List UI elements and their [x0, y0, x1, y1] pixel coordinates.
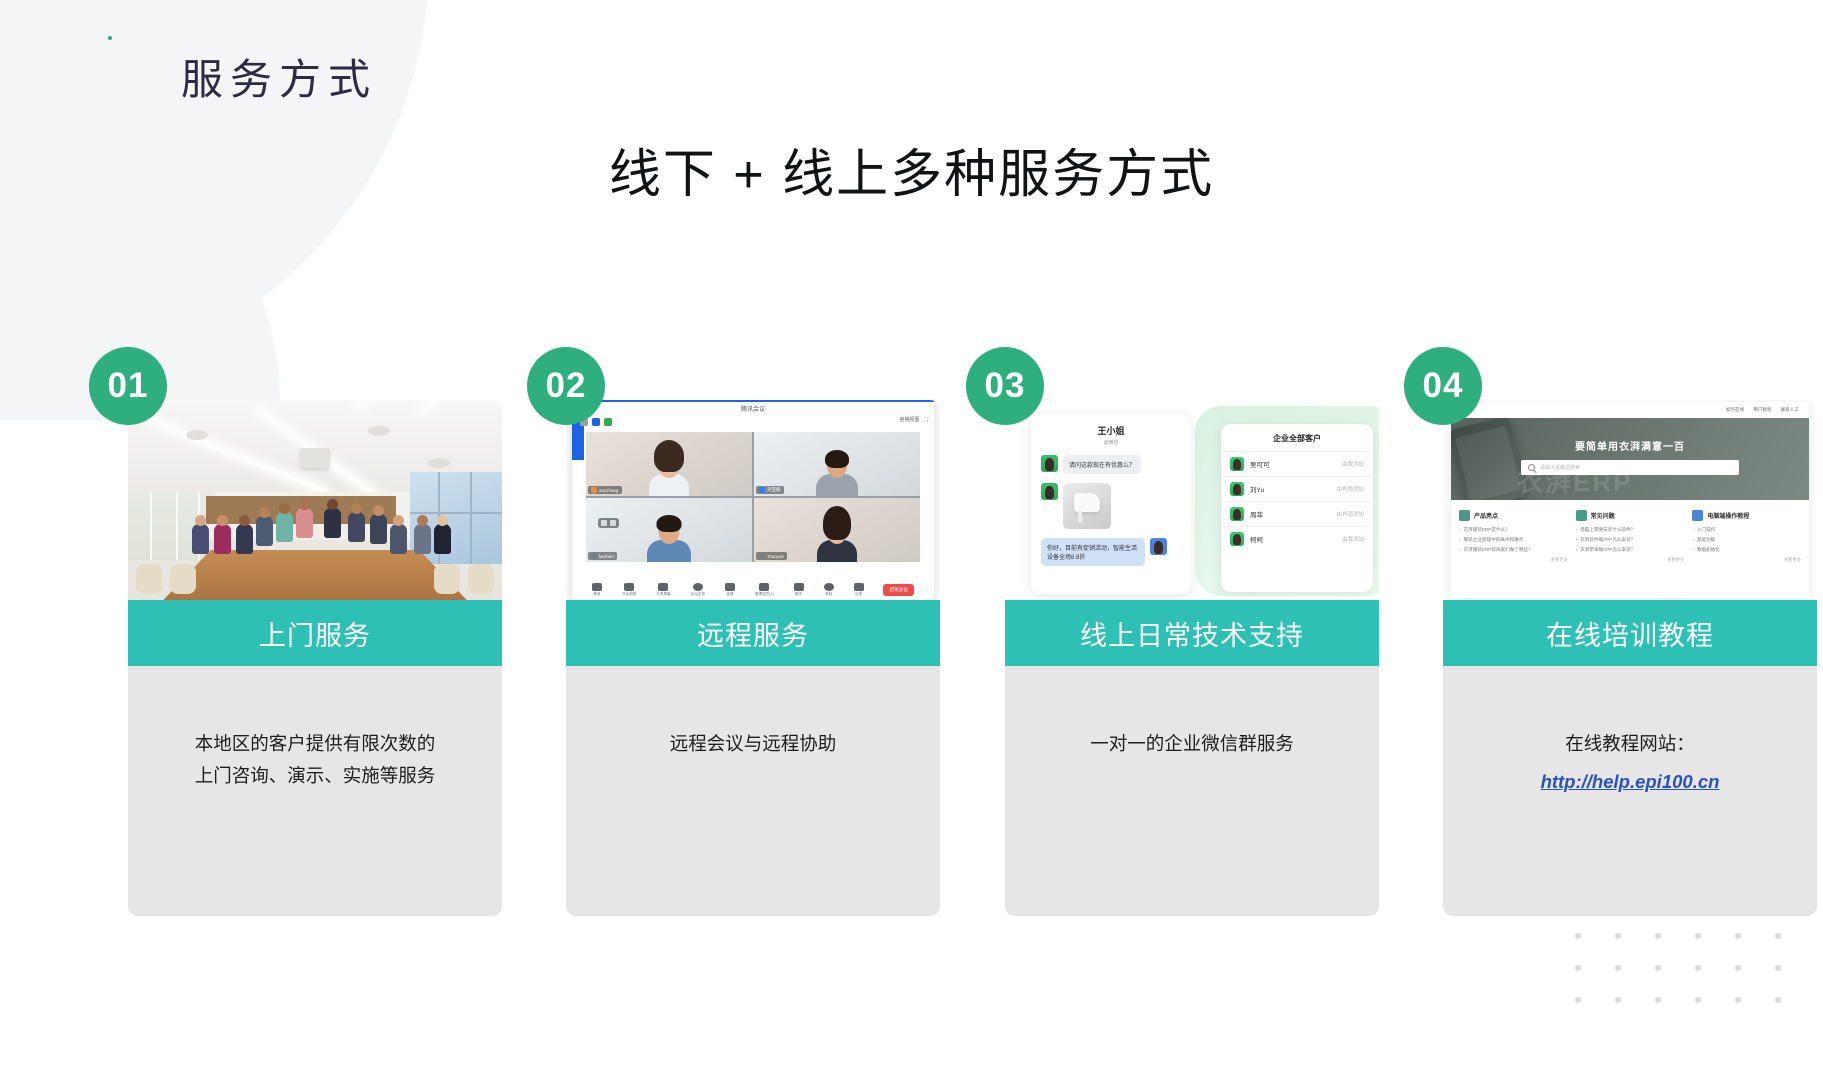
- signal-icon: [604, 418, 612, 426]
- card-media-1: [128, 400, 502, 600]
- link-item[interactable]: 数据初始化: [1692, 547, 1801, 553]
- hero-title: 要简单用衣湃满意一百: [1451, 438, 1809, 453]
- question-icon: [1576, 510, 1587, 521]
- record-icon: [824, 583, 834, 591]
- vc-toolbar[interactable]: 静音 开启视频 共享屏幕 会议文档: [586, 578, 920, 600]
- avatar: [1230, 507, 1244, 521]
- card-badge-4: 04: [1404, 347, 1482, 425]
- vc-participant-name: lambert: [588, 552, 617, 560]
- card-badge-3: 03: [966, 347, 1044, 425]
- service-card-2[interactable]: 02 腾讯会议 宫格视图 ⛶: [566, 400, 940, 916]
- vc-button-apps[interactable]: 应用: [854, 583, 864, 597]
- nav-item[interactable]: 用户教程: [1753, 407, 1771, 413]
- wechat-customer-service-screenshot: 王小姐 @微信 请问这款现在有优惠么？ 你好，目前有促销活动，智能生活: [1005, 400, 1379, 600]
- contact-tag: 由我添加: [1342, 535, 1364, 543]
- vc-button-record[interactable]: 录制: [824, 583, 834, 597]
- avatar: [1230, 457, 1244, 471]
- agent-avatar: [1150, 538, 1167, 555]
- mute-indicator-icon: [591, 487, 597, 493]
- link-item[interactable]: 衣湃服装ERP是什么？: [1459, 527, 1568, 533]
- wechat-contact-list: 企业全部客户 吴可可 由我添加 刘Yu 由肖雨添加: [1221, 424, 1373, 592]
- cards-container: 01: [0, 340, 1823, 950]
- page-kicker: 服务方式: [181, 46, 377, 107]
- wechat-chat-panel: 王小姐 @微信 请问这款现在有优惠么？ 你好，目前有促销活动，智能生活: [1031, 414, 1191, 594]
- search-icon: [1528, 464, 1535, 471]
- share-screen-icon: [658, 583, 668, 591]
- card-title-4: 在线培训教程: [1443, 600, 1817, 666]
- vc-tile-controls[interactable]: [598, 518, 619, 528]
- contact-name: 柯柯: [1250, 534, 1342, 544]
- help-website-screenshot: 如何在线 用户教程 联系人工 衣湃ERP 要简单用衣湃满意一百 请输入关键词搜索: [1443, 400, 1817, 600]
- avatar: [1230, 482, 1244, 496]
- tutorial-site-link[interactable]: http://help.epi100.cn: [1541, 771, 1720, 792]
- card-badge-2: 02: [527, 347, 605, 425]
- vc-tile[interactable]: anyzhang: [586, 432, 752, 496]
- avatar: [1041, 455, 1058, 472]
- meeting-room-photo: [128, 400, 502, 600]
- nav-item[interactable]: 如何在线: [1726, 407, 1744, 413]
- link-item[interactable]: 入门操作: [1692, 527, 1801, 533]
- card-badge-1: 01: [89, 347, 167, 425]
- list-icon: [1459, 510, 1470, 521]
- column-heading: 电脑端操作教程: [1692, 510, 1801, 521]
- wechat-message: 你好，目前有促销活动，智能生活设备全场8.8折: [1041, 538, 1191, 566]
- card-body-line1-4: 在线教程网站：: [1461, 728, 1799, 760]
- wechat-agent-reply: 你好，目前有促销活动，智能生活设备全场8.8折: [1041, 538, 1145, 566]
- list-item[interactable]: 吴可可 由我添加: [1221, 451, 1373, 476]
- column-heading: 常见问题: [1576, 510, 1685, 521]
- link-item[interactable]: 衣湃服装ERP帮商家们做了哪些？: [1459, 547, 1568, 553]
- card-media-3: 王小姐 @微信 请问这款现在有优惠么？ 你好，目前有促销活动，智能生活: [1005, 400, 1379, 600]
- vc-button-share[interactable]: 共享屏幕: [656, 583, 670, 597]
- wechat-message: 请问这款现在有优惠么？: [1041, 455, 1191, 474]
- avatar: [1041, 483, 1058, 500]
- vc-participant-name: 刘亚楠: [756, 486, 784, 494]
- website-column: 电脑端操作教程 入门操作 基础功能 数据初始化 查看更多: [1692, 510, 1801, 563]
- link-item[interactable]: 衣湃软件端APP怎么安装？: [1576, 537, 1685, 543]
- vc-end-meeting-button[interactable]: 结束会议: [883, 584, 913, 596]
- mute-indicator-icon: [759, 487, 765, 493]
- vc-participant-grid: anyzhang 刘亚楠: [586, 432, 920, 562]
- more-link[interactable]: 查看更多: [1576, 557, 1685, 563]
- pin-icon[interactable]: [601, 520, 607, 526]
- vc-button-chat[interactable]: 聊天: [794, 583, 804, 597]
- contact-tag: 由肖雨添加: [1336, 485, 1364, 493]
- product-mixer-photo[interactable]: [1063, 483, 1111, 529]
- info-icon: [592, 418, 600, 426]
- website-columns: 产品亮点 衣湃服装ERP是什么？ 服装企业管理中的痛点和难点 衣湃服装ERP帮商…: [1451, 500, 1809, 563]
- card-body-line1-1: 本地区的客户提供有限次数的: [146, 728, 484, 760]
- wechat-contact-source: @微信: [1031, 439, 1191, 446]
- card-body-line1-3: 一对一的企业微信群服务: [1023, 728, 1361, 760]
- wechat-message-text: 请问这款现在有优惠么？: [1063, 455, 1141, 474]
- camera-icon: [624, 583, 634, 591]
- card-body-2: 远程会议与远程协助: [566, 666, 940, 916]
- website-hero: 衣湃ERP 要简单用衣湃满意一百 请输入关键词搜索: [1451, 418, 1809, 500]
- vc-button-members[interactable]: 管理成员(4): [755, 583, 774, 597]
- invite-icon: [725, 583, 735, 591]
- layout-icon[interactable]: [610, 520, 616, 526]
- fullscreen-icon[interactable]: ⛶: [924, 417, 928, 423]
- wechat-chat-header: 王小姐 @微信: [1031, 414, 1191, 446]
- more-link[interactable]: 查看更多: [1459, 557, 1568, 563]
- vc-button-mute[interactable]: 静音: [592, 583, 602, 597]
- more-link[interactable]: 查看更多: [1692, 557, 1801, 563]
- nav-item[interactable]: 联系人工: [1781, 407, 1799, 413]
- link-item[interactable]: 基础功能: [1692, 537, 1801, 543]
- service-card-1[interactable]: 01: [128, 400, 502, 916]
- search-placeholder: 请输入关键词搜索: [1540, 464, 1580, 471]
- wechat-contact-list-title: 企业全部客户: [1221, 424, 1373, 451]
- list-item[interactable]: 柯柯 由我添加: [1221, 526, 1373, 551]
- contact-name: 周菲: [1250, 509, 1336, 519]
- list-item[interactable]: 刘Yu 由肖雨添加: [1221, 476, 1373, 501]
- service-card-4[interactable]: 04 如何在线 用户教程 联系人工 衣湃ERP 要简单用衣湃满意一百: [1443, 400, 1817, 916]
- vc-tile[interactable]: Tracyxie: [754, 498, 920, 562]
- vc-participant-name: anyzhang: [588, 486, 622, 494]
- document-icon: [693, 583, 703, 591]
- vc-view-controls[interactable]: 宫格视图 ⛶: [899, 416, 928, 423]
- link-item[interactable]: 电脑上需要安装什么软件？: [1576, 527, 1685, 533]
- vc-button-invite[interactable]: 邀请: [725, 583, 735, 597]
- vc-view-mode[interactable]: 宫格视图: [899, 416, 919, 423]
- card-body-1: 本地区的客户提供有限次数的 上门咨询、演示、实施等服务: [128, 666, 502, 916]
- page-title: 线下 + 线上多种服务方式: [0, 132, 1823, 207]
- link-item[interactable]: 衣湃苹果端APP怎么安装？: [1576, 547, 1685, 553]
- vc-button-video[interactable]: 开启视频: [622, 583, 636, 597]
- mute-indicator-icon: [759, 553, 765, 559]
- vc-tile[interactable]: lambert: [586, 498, 752, 562]
- mute-indicator-icon: [591, 553, 597, 559]
- vc-participant-name: Tracyxie: [756, 552, 787, 560]
- wechat-message: [1041, 483, 1191, 529]
- card-body-3: 一对一的企业微信群服务: [1005, 666, 1379, 916]
- contact-tag: 由我添加: [1342, 460, 1364, 468]
- contact-name: 吴可可: [1250, 459, 1342, 469]
- contact-name: 刘Yu: [1250, 484, 1336, 494]
- website-column: 常见问题 电脑上需要安装什么软件？ 衣湃软件端APP怎么安装？ 衣湃苹果端APP…: [1576, 510, 1685, 563]
- vc-button-document[interactable]: 会议文档: [691, 583, 705, 597]
- card-media-4: 如何在线 用户教程 联系人工 衣湃ERP 要简单用衣湃满意一百 请输入关键词搜索: [1443, 400, 1817, 600]
- vc-window-title: 腾讯会议: [572, 404, 934, 413]
- link-item[interactable]: 服装企业管理中的痛点和难点: [1459, 537, 1568, 543]
- website-column: 产品亮点 衣湃服装ERP是什么？ 服装企业管理中的痛点和难点 衣湃服装ERP帮商…: [1459, 510, 1568, 563]
- list-item[interactable]: 周菲 由肖雨添加: [1221, 501, 1373, 526]
- wechat-contact-name: 王小姐: [1031, 424, 1191, 437]
- search-input[interactable]: 请输入关键词搜索: [1521, 460, 1739, 475]
- contact-tag: 由肖雨添加: [1336, 510, 1364, 518]
- card-body-4: 在线教程网站： http://help.epi100.cn: [1443, 666, 1817, 916]
- accent-dot: [108, 36, 112, 40]
- service-card-3[interactable]: 03 王小姐 @微信 请问这款现在有优惠么？: [1005, 400, 1379, 916]
- avatar: [1230, 532, 1244, 546]
- microphone-icon: [592, 583, 602, 591]
- card-media-2: 腾讯会议 宫格视图 ⛶: [566, 400, 940, 600]
- monitor-icon: [1692, 510, 1703, 521]
- website-frame: 如何在线 用户教程 联系人工 衣湃ERP 要简单用衣湃满意一百 请输入关键词搜索: [1451, 402, 1809, 598]
- card-body-line1-2: 远程会议与远程协助: [584, 728, 922, 760]
- card-body-line2-1: 上门咨询、演示、实施等服务: [146, 760, 484, 792]
- members-icon: [759, 583, 769, 591]
- video-conference-screenshot: 腾讯会议 宫格视图 ⛶: [572, 400, 934, 600]
- vc-tile[interactable]: 刘亚楠: [754, 432, 920, 496]
- slide-root: 服务方式 线下 + 线上多种服务方式 01: [0, 0, 1823, 1065]
- card-title-3: 线上日常技术支持: [1005, 600, 1379, 666]
- card-title-1: 上门服务: [128, 600, 502, 666]
- website-nav[interactable]: 如何在线 用户教程 联系人工: [1451, 402, 1809, 418]
- card-title-2: 远程服务: [566, 600, 940, 666]
- column-heading: 产品亮点: [1459, 510, 1568, 521]
- chat-icon: [794, 583, 804, 591]
- apps-icon: [854, 583, 864, 591]
